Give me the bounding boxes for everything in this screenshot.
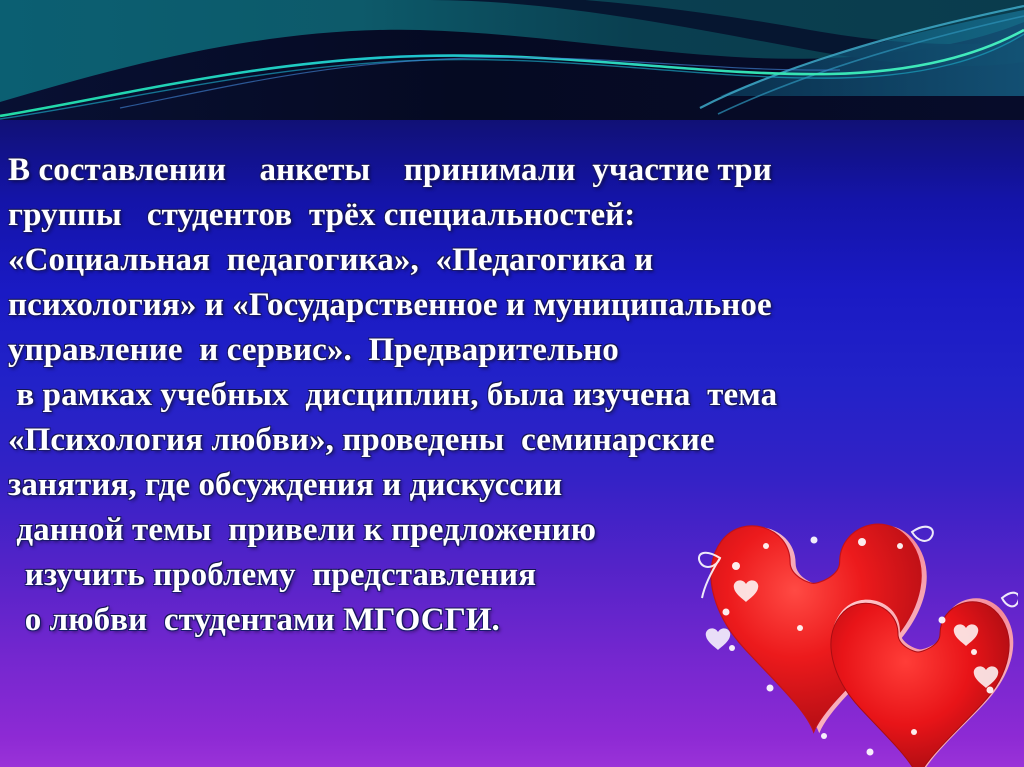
body-line: «Социальная педагогика», «Педагогика и	[8, 238, 1018, 283]
body-line: психология» и «Государственное и муницип…	[8, 283, 1018, 328]
body-line: данной темы привели к предложению	[8, 508, 1018, 553]
slide-body-text: В составлении анкеты принимали участие т…	[8, 148, 1018, 643]
wave-graphic	[0, 0, 1024, 120]
body-line: занятия, где обсуждения и дискуссии	[8, 463, 1018, 508]
body-line: «Психология любви», проведены семинарски…	[8, 418, 1018, 463]
body-line: управление и сервис». Предварительно	[8, 328, 1018, 373]
top-wave-ribbon	[0, 0, 1024, 120]
presentation-slide: В составлении анкеты принимали участие т…	[0, 0, 1024, 767]
body-line: В составлении анкеты принимали участие т…	[8, 148, 1018, 193]
body-line: о любви студентами МГОСГИ.	[8, 598, 1018, 643]
body-line: в рамках учебных дисциплин, была изучена…	[8, 373, 1018, 418]
body-line: изучить проблему представления	[8, 553, 1018, 598]
body-line: группы студентов трёх специальностей:	[8, 193, 1018, 238]
